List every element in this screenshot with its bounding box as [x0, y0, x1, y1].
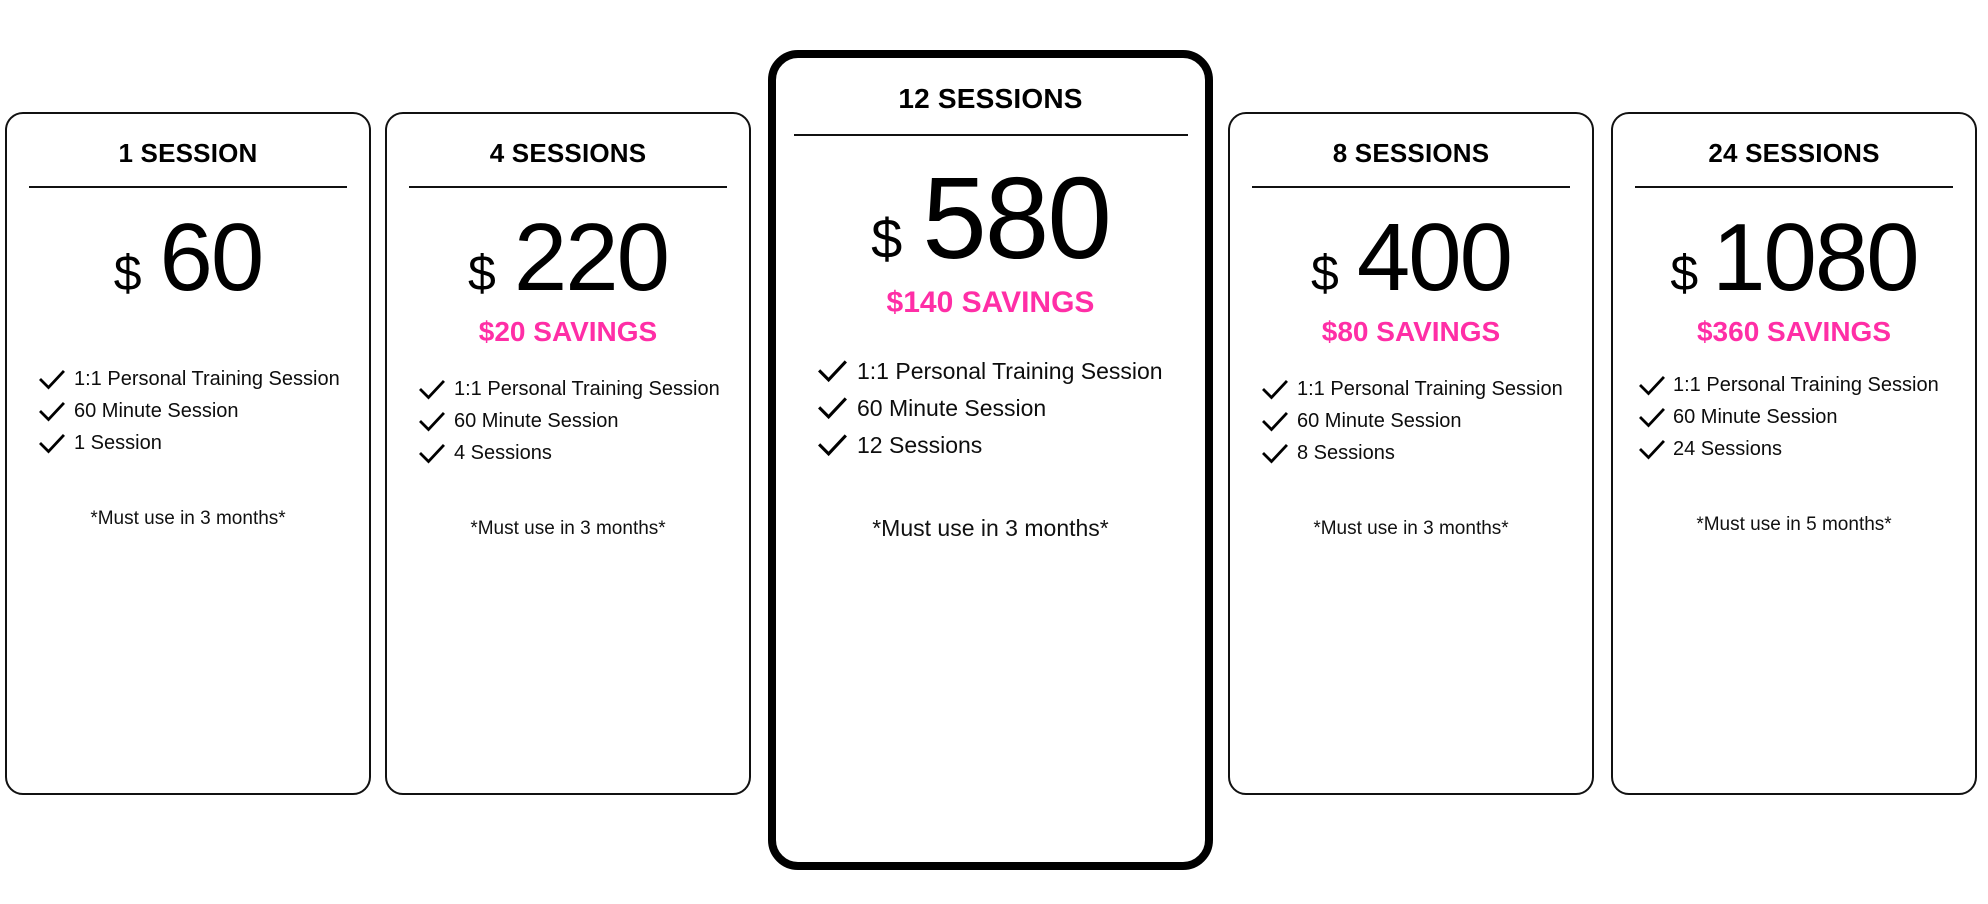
- check-icon: [818, 433, 847, 458]
- savings-badge: $140 SAVINGS: [887, 286, 1095, 320]
- check-icon: [1262, 443, 1288, 465]
- check-icon: [39, 433, 65, 455]
- list-item: 24 Sessions: [1639, 438, 1975, 461]
- feature-label: 60 Minute Session: [454, 410, 619, 433]
- feature-label: 60 Minute Session: [1297, 410, 1462, 433]
- list-item: 1:1 Personal Training Session: [818, 358, 1205, 385]
- pricing-card-8-sessions[interactable]: 8 SESSIONS $ 400 $80 SAVINGS 1:1 Persona…: [1228, 112, 1594, 795]
- pricing-card-12-sessions-featured[interactable]: 12 SESSIONS $ 580 $140 SAVINGS 1:1 Perso…: [768, 50, 1213, 870]
- list-item: 1:1 Personal Training Session: [419, 378, 749, 401]
- feature-label: 1:1 Personal Training Session: [1673, 374, 1939, 397]
- currency-symbol: $: [114, 248, 142, 298]
- price-amount: 220: [514, 210, 668, 306]
- pricing-table: 1 SESSION $ 60 1:1 Personal Training Ses…: [0, 0, 1988, 904]
- check-icon: [419, 443, 445, 465]
- check-icon: [39, 401, 65, 423]
- check-icon: [419, 411, 445, 433]
- title-divider: [794, 134, 1188, 136]
- feature-label: 1:1 Personal Training Session: [74, 368, 340, 391]
- price-row: $ 60: [114, 210, 263, 306]
- title-divider: [1252, 186, 1570, 188]
- card-title: 4 SESSIONS: [490, 138, 647, 169]
- list-item: 60 Minute Session: [1639, 406, 1975, 429]
- savings-badge: $360 SAVINGS: [1697, 316, 1891, 348]
- list-item: 12 Sessions: [818, 432, 1205, 459]
- savings-badge: $20 SAVINGS: [479, 316, 657, 348]
- currency-symbol: $: [468, 248, 496, 298]
- title-divider: [29, 186, 347, 188]
- list-item: 1 Session: [39, 432, 369, 455]
- check-icon: [1639, 407, 1665, 429]
- feature-label: 12 Sessions: [857, 432, 982, 459]
- disclaimer-text: *Must use in 3 months*: [776, 515, 1205, 542]
- feature-list: 1:1 Personal Training Session 60 Minute …: [1613, 374, 1975, 470]
- list-item: 60 Minute Session: [818, 395, 1205, 422]
- check-icon: [1262, 411, 1288, 433]
- currency-symbol: $: [871, 211, 902, 267]
- price-amount: 400: [1357, 210, 1511, 306]
- card-title: 1 SESSION: [118, 138, 257, 169]
- price-row: $ 580: [871, 160, 1110, 276]
- check-icon: [818, 359, 847, 384]
- list-item: 1:1 Personal Training Session: [1639, 374, 1975, 397]
- check-icon: [1262, 379, 1288, 401]
- pricing-card-1-session[interactable]: 1 SESSION $ 60 1:1 Personal Training Ses…: [5, 112, 371, 795]
- feature-list: 1:1 Personal Training Session 60 Minute …: [776, 358, 1205, 469]
- list-item: 60 Minute Session: [39, 400, 369, 423]
- feature-label: 1:1 Personal Training Session: [857, 358, 1163, 385]
- currency-symbol: $: [1311, 248, 1339, 298]
- feature-label: 4 Sessions: [454, 442, 552, 465]
- list-item: 60 Minute Session: [1262, 410, 1592, 433]
- feature-label: 60 Minute Session: [857, 395, 1046, 422]
- list-item: 1:1 Personal Training Session: [39, 368, 369, 391]
- list-item: 4 Sessions: [419, 442, 749, 465]
- check-icon: [1639, 375, 1665, 397]
- card-title: 12 SESSIONS: [898, 83, 1082, 115]
- pricing-card-24-sessions[interactable]: 24 SESSIONS $ 1080 $360 SAVINGS 1:1 Pers…: [1611, 112, 1977, 795]
- check-icon: [1639, 439, 1665, 461]
- feature-list: 1:1 Personal Training Session 60 Minute …: [1230, 378, 1592, 474]
- price-amount: 1080: [1712, 210, 1918, 306]
- price-row: $ 400: [1311, 210, 1511, 306]
- disclaimer-text: *Must use in 3 months*: [387, 518, 749, 540]
- price-amount: 60: [160, 210, 263, 306]
- feature-list: 1:1 Personal Training Session 60 Minute …: [7, 368, 369, 464]
- check-icon: [39, 369, 65, 391]
- price-row: $ 1080: [1670, 210, 1917, 306]
- pricing-card-4-sessions[interactable]: 4 SESSIONS $ 220 $20 SAVINGS 1:1 Persona…: [385, 112, 751, 795]
- list-item: 1:1 Personal Training Session: [1262, 378, 1592, 401]
- list-item: 8 Sessions: [1262, 442, 1592, 465]
- list-item: 60 Minute Session: [419, 410, 749, 433]
- card-title: 24 SESSIONS: [1708, 138, 1879, 169]
- disclaimer-text: *Must use in 3 months*: [7, 508, 369, 530]
- feature-label: 1:1 Personal Training Session: [454, 378, 720, 401]
- savings-badge: $80 SAVINGS: [1322, 316, 1500, 348]
- disclaimer-text: *Must use in 5 months*: [1613, 514, 1975, 536]
- currency-symbol: $: [1670, 248, 1698, 298]
- disclaimer-text: *Must use in 3 months*: [1230, 518, 1592, 540]
- feature-label: 1 Session: [74, 432, 162, 455]
- feature-list: 1:1 Personal Training Session 60 Minute …: [387, 378, 749, 474]
- feature-label: 24 Sessions: [1673, 438, 1782, 461]
- check-icon: [818, 396, 847, 421]
- price-amount: 580: [922, 160, 1110, 276]
- feature-label: 60 Minute Session: [74, 400, 239, 423]
- feature-label: 1:1 Personal Training Session: [1297, 378, 1563, 401]
- title-divider: [409, 186, 727, 188]
- check-icon: [419, 379, 445, 401]
- feature-label: 60 Minute Session: [1673, 406, 1838, 429]
- title-divider: [1635, 186, 1953, 188]
- price-row: $ 220: [468, 210, 668, 306]
- feature-label: 8 Sessions: [1297, 442, 1395, 465]
- card-title: 8 SESSIONS: [1333, 138, 1490, 169]
